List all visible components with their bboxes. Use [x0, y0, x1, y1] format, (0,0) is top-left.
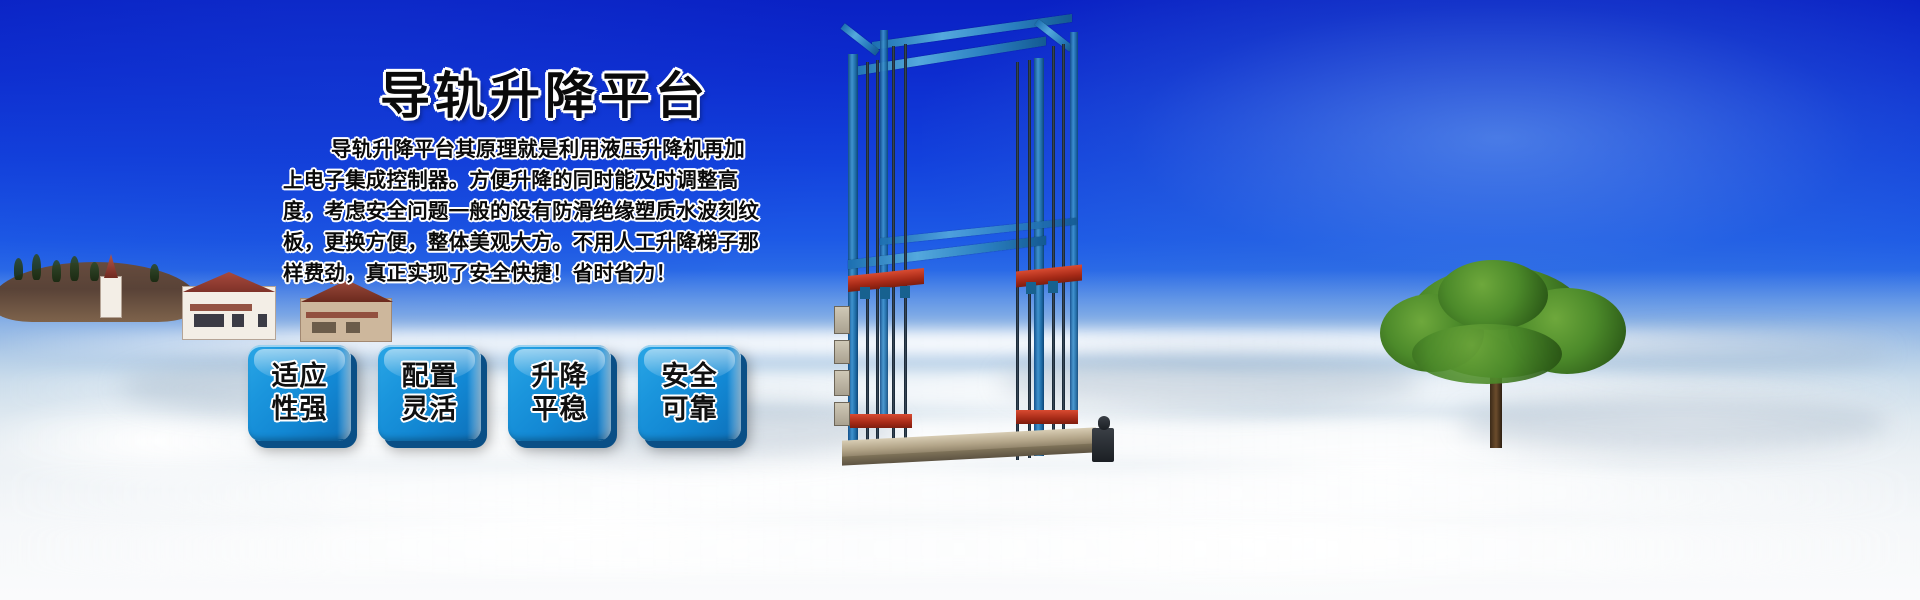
lift-chain — [876, 60, 879, 460]
village-house — [182, 286, 276, 340]
lift-chain — [1028, 60, 1031, 458]
tree-canopy — [1412, 324, 1562, 384]
feature-button-row: 适应 性强 配置 灵活 升降 平稳 安全 可靠 — [248, 345, 741, 441]
house-window — [312, 322, 336, 333]
lift-column-left-rear — [880, 30, 888, 422]
lift-chain — [904, 44, 907, 450]
lift-mid-beam-rear — [880, 218, 1076, 246]
feature-button-safety[interactable]: 安全 可靠 — [638, 345, 741, 441]
church-building — [100, 276, 122, 318]
pine-tree-icon — [90, 262, 99, 281]
lift-control-cabinet — [834, 370, 850, 396]
lift-control-cabinet — [834, 340, 850, 364]
lift-platform-support — [1016, 410, 1078, 424]
feature-button-label: 适应 性强 — [272, 360, 328, 426]
page-title: 导轨升降平台 — [380, 56, 710, 128]
pine-tree-icon — [52, 260, 61, 282]
house-roof — [174, 272, 284, 292]
feature-button-configuration[interactable]: 配置 灵活 — [378, 345, 481, 441]
house-window — [194, 314, 224, 327]
feature-button-label: 配置 灵活 — [402, 360, 458, 426]
lift-sprocket-block — [860, 287, 870, 299]
cloud-streak — [0, 524, 1920, 574]
lift-chain — [1052, 46, 1055, 448]
lift-column-right-front — [1034, 58, 1044, 456]
feature-button-smoothness[interactable]: 升降 平稳 — [508, 345, 611, 441]
house-window — [232, 314, 244, 327]
pine-tree-icon — [150, 264, 159, 282]
lift-sprocket-block — [1026, 282, 1036, 294]
lift-chain — [892, 46, 895, 452]
feature-button-label: 升降 平稳 — [532, 360, 588, 426]
lift-sprocket-block — [1048, 281, 1058, 293]
house-window — [346, 322, 360, 333]
lift-control-cabinet — [834, 402, 850, 426]
pine-tree-icon — [70, 256, 79, 281]
lift-sprocket-block — [880, 287, 890, 299]
tree-scene — [1350, 260, 1650, 460]
feature-button-adaptability[interactable]: 适应 性强 — [248, 345, 351, 441]
hydraulic-power-unit — [1092, 428, 1114, 462]
lift-chain — [866, 62, 869, 462]
village-house — [300, 298, 392, 342]
lift-chain — [1016, 62, 1019, 460]
lift-sprocket-block — [900, 286, 910, 298]
product-banner: 导轨升降平台 导轨升降平台其原理就是利用液压升降机再加上电子集成控制器。方便升降… — [0, 0, 1920, 600]
pine-tree-icon — [32, 254, 41, 280]
product-description: 导轨升降平台其原理就是利用液压升降机再加上电子集成控制器。方便升降的同时能及时调… — [283, 134, 763, 289]
guide-rail-lift-platform — [820, 10, 1130, 490]
lift-chain — [1062, 44, 1065, 446]
lift-control-cabinet — [834, 306, 850, 334]
house-balcony — [306, 312, 378, 318]
lift-platform-support — [850, 414, 912, 428]
feature-button-label: 安全 可靠 — [662, 360, 718, 426]
house-window — [258, 314, 267, 327]
lift-top-connector — [841, 23, 880, 56]
hydraulic-motor — [1098, 416, 1110, 430]
tree-canopy — [1438, 260, 1548, 330]
lift-column-right-rear — [1070, 32, 1078, 424]
pine-tree-icon — [14, 258, 23, 280]
house-balcony — [190, 304, 252, 311]
